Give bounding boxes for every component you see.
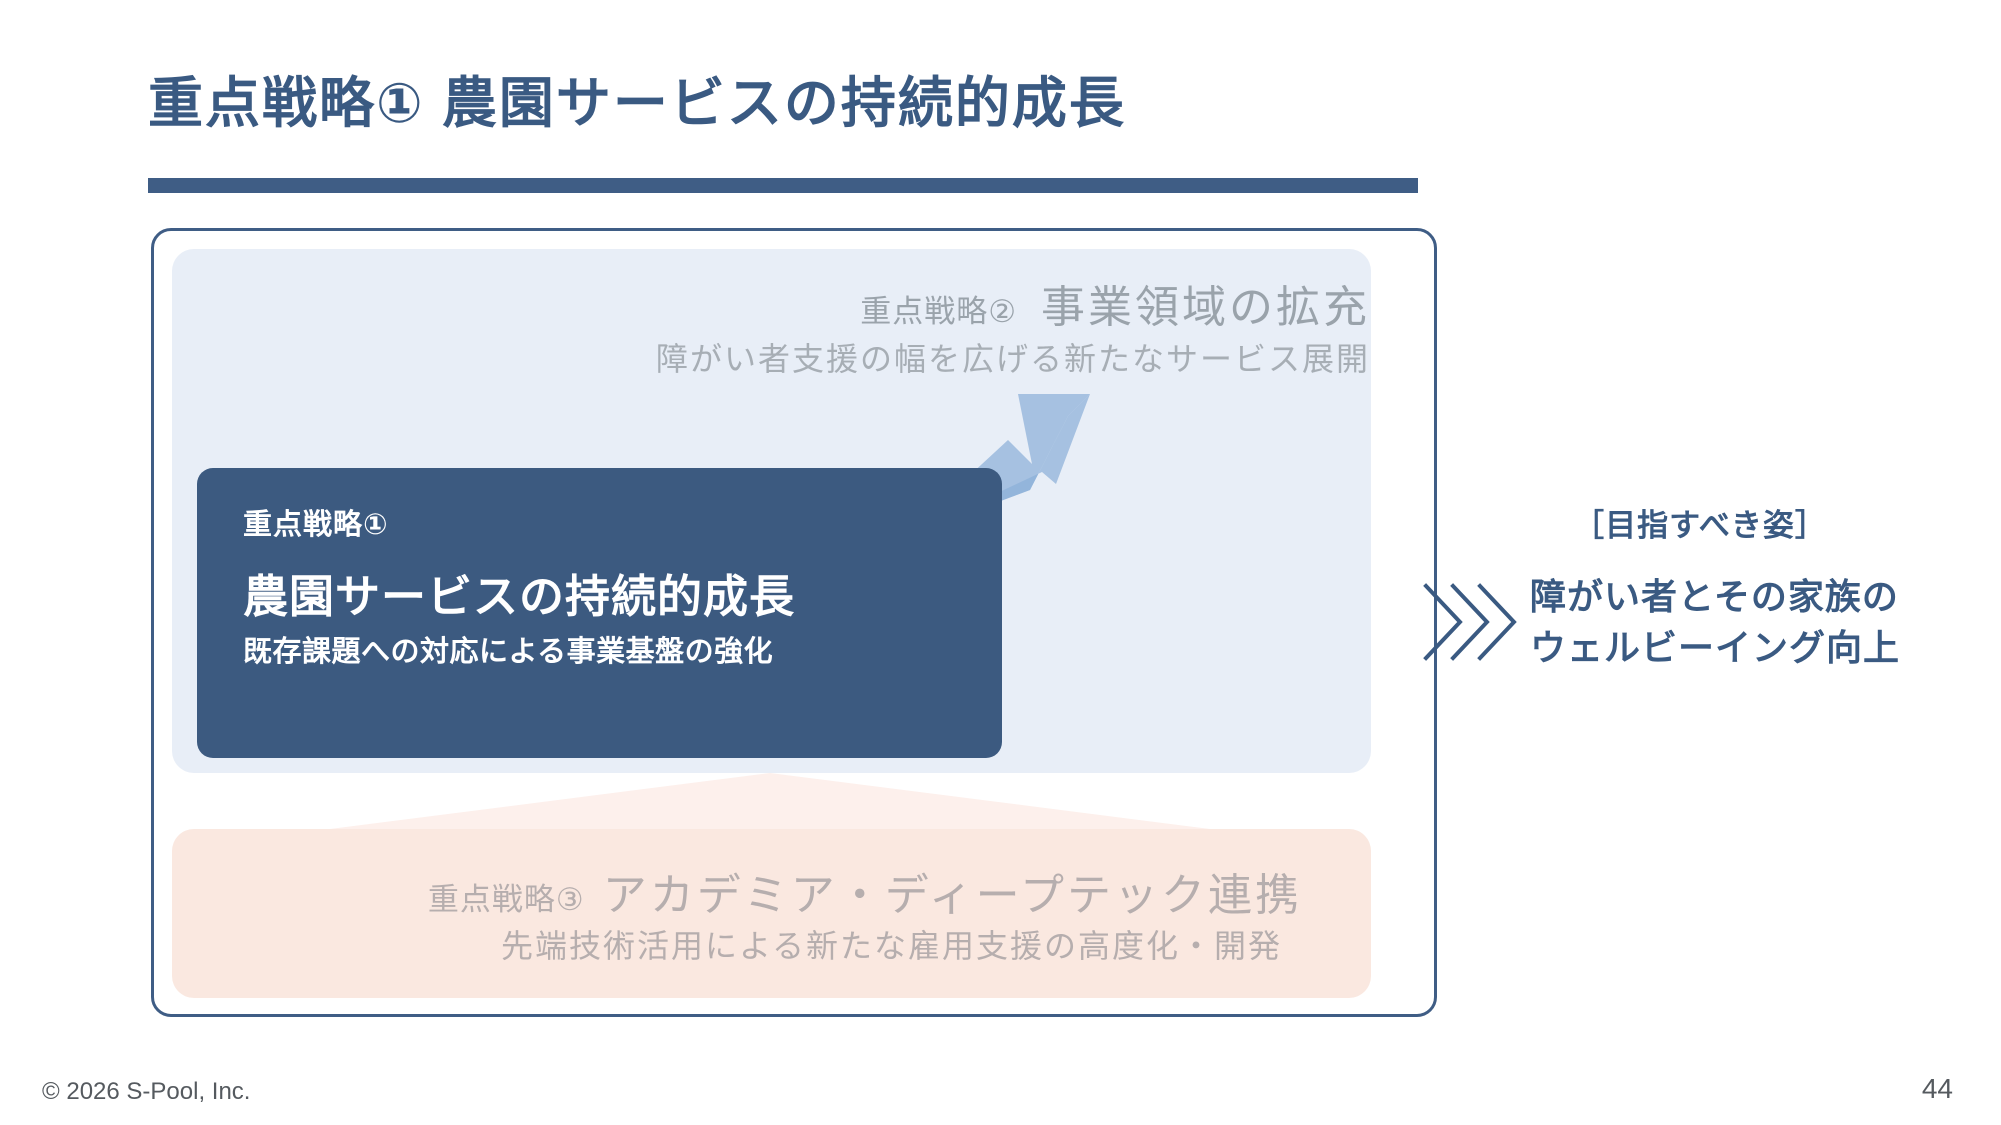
strategy-3-subtitle: 先端技術活用による新たな雇用支援の高度化・開発 xyxy=(172,921,1282,967)
strategy-1-subtitle: 既存課題への対応による事業基盤の強化 xyxy=(243,635,1002,670)
page-number: 44 xyxy=(1922,1073,1953,1105)
strategy-3-heading: 重点戦略③アカデミア・ディープテック連携 xyxy=(172,859,1302,923)
goal-text-line-2: ウェルビーイング向上 xyxy=(1530,622,1940,673)
strategy-3-label: 重点戦略③ xyxy=(428,882,585,917)
strategy-2-heading: 重点戦略②事業領域の拡充 xyxy=(190,271,1370,335)
triangle-svg xyxy=(330,773,1210,829)
copyright-text: © 2026 S-Pool, Inc. xyxy=(42,1078,250,1106)
strategy-1-title: 農園サービスの持続的成長 xyxy=(243,571,1002,623)
strategy-2-label: 重点戦略② xyxy=(860,294,1017,329)
strategy-1-label: 重点戦略① xyxy=(243,508,1002,543)
strategy-1-card: 重点戦略① 農園サービスの持続的成長 既存課題への対応による事業基盤の強化 xyxy=(197,468,1002,758)
upward-triangle-shape xyxy=(330,773,1210,829)
strategy-3-band: 重点戦略③アカデミア・ディープテック連携 先端技術活用による新たな雇用支援の高度… xyxy=(172,829,1371,998)
goal-text: 障がい者とその家族の ウェルビーイング向上 xyxy=(1530,571,1940,673)
triple-chevron-right-icon xyxy=(1420,580,1520,664)
strategy-2-title: 事業領域の拡充 xyxy=(1041,283,1370,332)
title-underline-rule xyxy=(148,178,1418,193)
goal-row: 障がい者とその家族の ウェルビーイング向上 xyxy=(1420,571,1940,673)
goal-block: ［目指すべき姿］ 障がい者とその家族の ウェルビーイング向上 xyxy=(1420,500,1940,673)
strategy-2-subtitle: 障がい者支援の幅を広げる新たなサービス展開 xyxy=(190,334,1370,380)
goal-text-line-1: 障がい者とその家族の xyxy=(1530,571,1940,622)
triple-chevron-svg xyxy=(1420,580,1520,664)
slide-root: 重点戦略① 農園サービスの持続的成長 重点戦略②事業領域の拡充 障がい者支援の幅… xyxy=(0,0,2001,1125)
strategy-3-title: アカデミア・ディープテック連携 xyxy=(603,871,1302,920)
page-title: 重点戦略① 農園サービスの持続的成長 xyxy=(148,58,1126,138)
goal-kicker-label: ［目指すべき姿］ xyxy=(1420,500,1940,545)
